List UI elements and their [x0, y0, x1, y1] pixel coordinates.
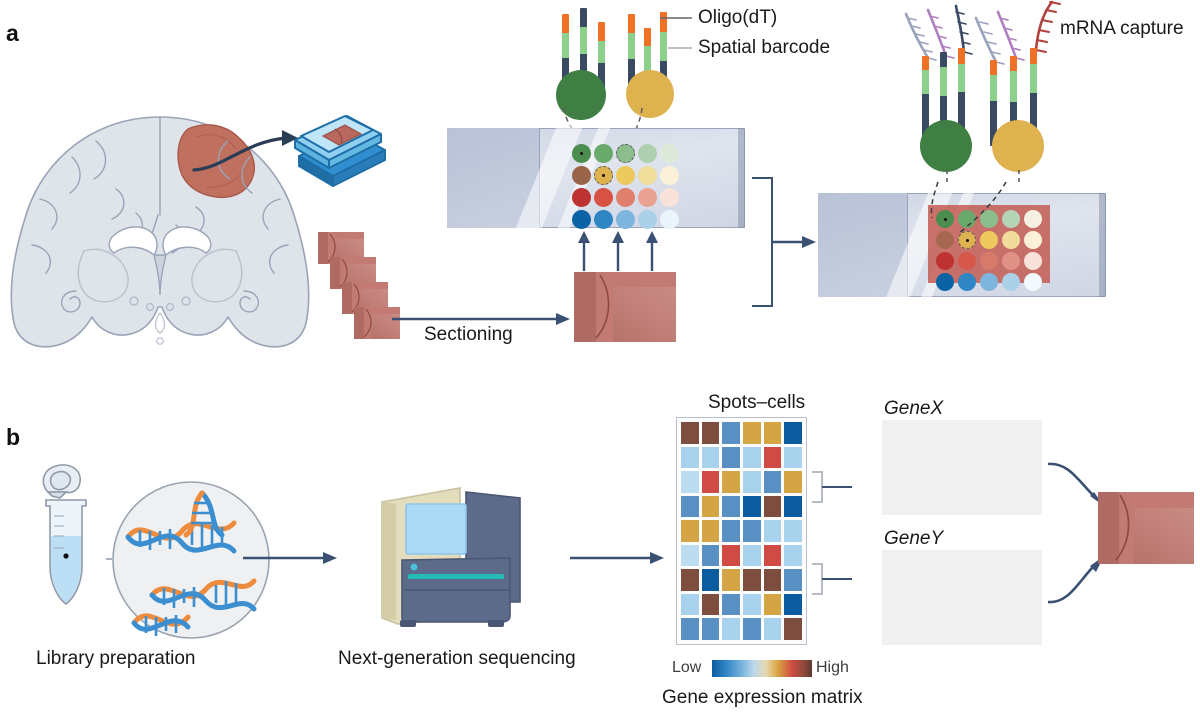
matrix-cell — [681, 569, 699, 591]
label-sectioning: Sectioning — [424, 324, 513, 346]
matrix-cell — [681, 594, 699, 616]
array-spot — [638, 166, 657, 185]
array-spot — [572, 188, 591, 207]
label-gene-x: GeneX — [884, 398, 943, 420]
matrix-cell — [702, 471, 720, 493]
array-spot — [936, 252, 954, 270]
array-spot — [1024, 252, 1042, 270]
glass-slide-array — [447, 128, 745, 228]
figure-canvas: a — [0, 0, 1200, 713]
array-spot — [572, 210, 591, 229]
oligo-strand — [922, 56, 929, 136]
label-scale-high: High — [816, 659, 849, 677]
array-spot — [616, 188, 635, 207]
matrix-cell — [722, 447, 740, 469]
array-spot — [980, 273, 998, 291]
label-oligo-dt: Oligo(dT) — [698, 7, 777, 29]
matrix-cell — [784, 618, 802, 640]
matrix-cell — [784, 447, 802, 469]
matrix-cell — [681, 618, 699, 640]
matrix-cell — [764, 618, 782, 640]
matrix-cell — [681, 520, 699, 542]
gene-y-spot-map[interactable] — [882, 550, 1042, 645]
matrix-cell — [764, 496, 782, 518]
matrix-cell — [764, 422, 782, 444]
matrix-cell — [743, 594, 761, 616]
matrix-cell — [702, 422, 720, 444]
label-scale-low: Low — [672, 659, 701, 677]
legend-leader-lines — [660, 10, 700, 56]
array-spot — [572, 166, 591, 185]
label-spatial-barcode: Spatial barcode — [698, 37, 830, 59]
bracket-matrix-to-geney — [810, 562, 854, 596]
array-spot — [1002, 252, 1020, 270]
array-spot — [1024, 273, 1042, 291]
matrix-cell — [764, 520, 782, 542]
array-spot — [958, 252, 976, 270]
matrix-cell — [722, 594, 740, 616]
matrix-cell — [784, 594, 802, 616]
label-library-preparation: Library preparation — [36, 648, 195, 670]
array-spot — [958, 273, 976, 291]
matrix-cell — [764, 569, 782, 591]
matrix-cell — [722, 422, 740, 444]
microcentrifuge-tube — [30, 462, 110, 612]
array-spot — [660, 188, 679, 207]
label-sequencing: Next-generation sequencing — [338, 648, 576, 670]
matrix-cell — [784, 471, 802, 493]
array-spot — [936, 273, 954, 291]
matrix-cell — [784, 569, 802, 591]
matrix-cell — [764, 545, 782, 567]
array-spot — [1024, 231, 1042, 249]
matrix-cell — [722, 618, 740, 640]
array-spot — [660, 166, 679, 185]
matrix-cell — [702, 496, 720, 518]
gene-expression-matrix[interactable] — [676, 417, 807, 645]
matrix-cell — [743, 496, 761, 518]
matrix-cell — [784, 422, 802, 444]
matrix-cell — [722, 520, 740, 542]
leader-dash — [1016, 170, 1022, 186]
matrix-cell — [702, 569, 720, 591]
array-spot — [572, 144, 591, 163]
array-spot — [1002, 273, 1020, 291]
array-spot — [1024, 210, 1042, 228]
matrix-cell — [702, 447, 720, 469]
matrix-cell — [764, 594, 782, 616]
arrows-tissue-to-slide — [578, 231, 674, 273]
leader-bead-to-tissue-spot-yellow — [946, 182, 1016, 238]
array-spot — [638, 210, 657, 229]
arrow-libprep-to-sequencer — [243, 551, 339, 565]
array-spot — [980, 252, 998, 270]
label-gene-expression-matrix: Gene expression matrix — [662, 687, 863, 709]
array-spot — [660, 144, 679, 163]
matrix-cell — [743, 569, 761, 591]
array-spot — [638, 188, 657, 207]
matrix-cell — [681, 545, 699, 567]
matrix-cell — [702, 618, 720, 640]
matrix-cell — [784, 520, 802, 542]
matrix-cell — [681, 422, 699, 444]
arrow-sequencer-to-matrix — [570, 551, 666, 565]
final-tissue-map — [1098, 492, 1194, 564]
array-spot — [638, 144, 657, 163]
tissue-section-large — [574, 272, 676, 342]
gene-x-spot-map[interactable] — [882, 420, 1042, 515]
panel-letter-a: a — [6, 20, 19, 47]
colour-scale-bar — [712, 660, 812, 677]
array-spot — [616, 144, 635, 163]
array-spot — [594, 210, 613, 229]
matrix-cell — [743, 520, 761, 542]
matrix-cell — [681, 447, 699, 469]
array-spot — [660, 210, 679, 229]
array-spot — [616, 166, 635, 185]
matrix-cell — [764, 447, 782, 469]
bead-sphere — [920, 120, 972, 172]
arrow-to-tissue-slide — [772, 235, 818, 249]
matrix-cell — [681, 496, 699, 518]
bracket-matrix-to-genex — [810, 470, 854, 504]
array-spot — [616, 210, 635, 229]
matrix-cell — [722, 496, 740, 518]
matrix-cell — [681, 471, 699, 493]
panel-letter-b: b — [6, 424, 20, 451]
matrix-cell — [743, 618, 761, 640]
matrix-cell — [702, 545, 720, 567]
matrix-cell — [702, 594, 720, 616]
label-gene-y: GeneY — [884, 528, 943, 550]
array-spot — [594, 188, 613, 207]
label-mrna-capture: mRNA capture — [1060, 18, 1184, 40]
matrix-cell — [722, 471, 740, 493]
label-spots-cells: Spots–cells — [708, 392, 805, 414]
matrix-cell — [743, 422, 761, 444]
matrix-cell — [743, 545, 761, 567]
sequencer-machine — [368, 468, 540, 628]
matrix-cell — [784, 545, 802, 567]
matrix-cell — [722, 545, 740, 567]
matrix-cell — [722, 569, 740, 591]
array-spot — [594, 144, 613, 163]
matrix-cell — [764, 471, 782, 493]
matrix-cell — [784, 496, 802, 518]
matrix-cell — [743, 471, 761, 493]
spot-array-grid — [572, 144, 680, 216]
specimen-cassette — [285, 100, 395, 190]
matrix-cell — [743, 447, 761, 469]
bead-sphere — [992, 120, 1044, 172]
matrix-cell — [702, 520, 720, 542]
array-spot — [594, 166, 613, 185]
